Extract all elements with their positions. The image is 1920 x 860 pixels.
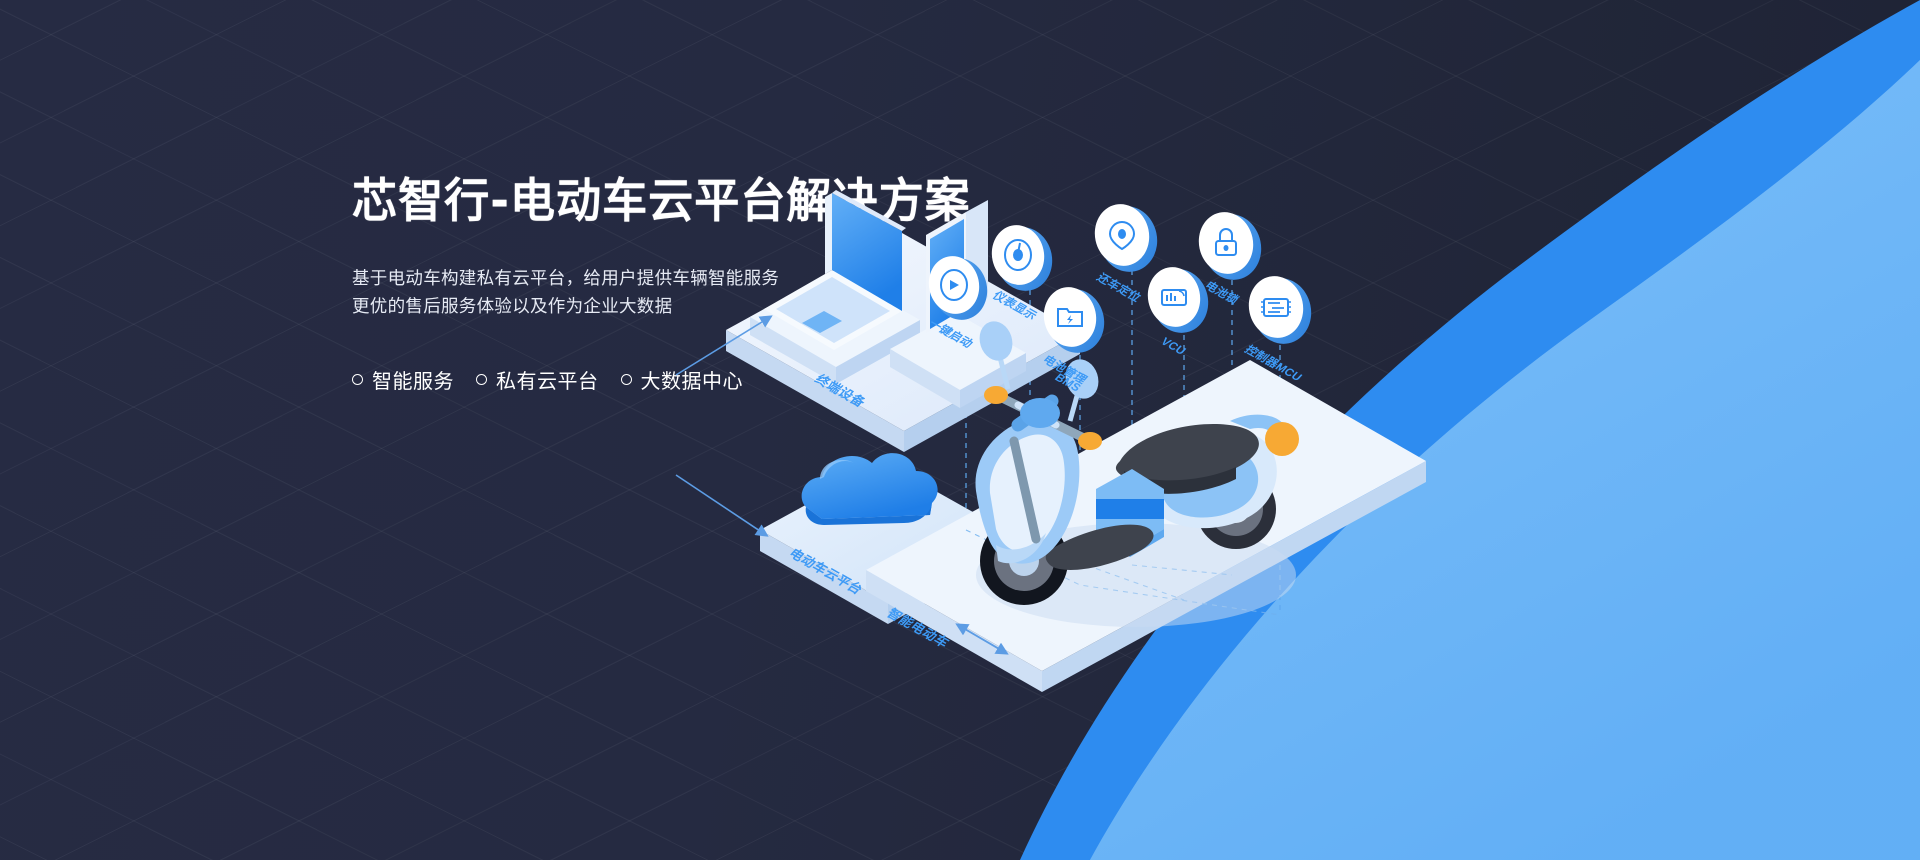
bullet-item-1: 智能服务 <box>352 365 454 394</box>
hero-banner: 芯智行-电动车云平台解决方案 基于电动车构建私有云平台，给用户提供车辆智能服务 … <box>0 0 1920 860</box>
bullet-label-1: 智能服务 <box>372 365 454 394</box>
bullet-item-2: 私有云平台 <box>476 365 599 394</box>
bullet-label-2: 私有云平台 <box>496 365 599 394</box>
feature-icon-vcu[interactable]: VCU <box>1142 262 1214 357</box>
circle-outline-icon <box>476 374 487 385</box>
bullet-item-3: 大数据中心 <box>621 365 744 394</box>
feature-label-return-location: 还车定位 <box>1093 270 1144 304</box>
bullet-label-3: 大数据中心 <box>641 365 744 394</box>
isometric-illustration: 终端设备 电动车云平台 <box>780 185 1920 860</box>
circle-outline-icon <box>352 374 363 385</box>
circle-outline-icon <box>621 374 632 385</box>
cloud-icon <box>802 453 938 525</box>
